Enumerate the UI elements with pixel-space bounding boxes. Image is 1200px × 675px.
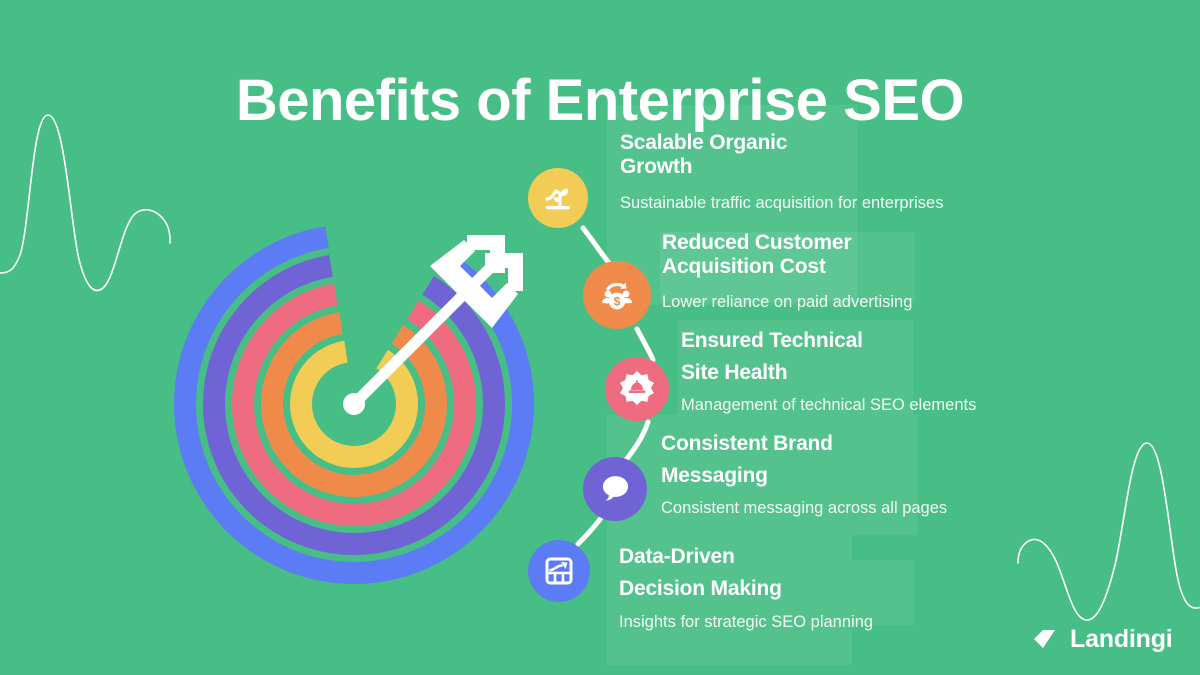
brand-name: Landingi (1070, 627, 1173, 652)
benefit-text-5: Data-Driven Decision Making Insights for… (619, 541, 1039, 633)
bullseye-target-graphic (168, 218, 540, 590)
landingi-diamond-icon (1031, 624, 1061, 654)
benefit-text-1: Scalable Organic Growth Sustainable traf… (620, 131, 1040, 214)
benefit-heading-1: Scalable Organic Growth (620, 131, 1040, 178)
customer-cost-dollar-icon: $ (595, 273, 639, 317)
benefit-description-4: Consistent messaging across all pages (661, 499, 1081, 519)
svg-text:$: $ (614, 294, 621, 308)
benefit-text-2: Reduced Customer Acquisition Cost Lower … (662, 231, 1082, 313)
bar-chart-growth-icon (540, 552, 578, 590)
infographic-canvas: Benefits of Enterprise SEO (0, 0, 1200, 675)
benefit-description-3: Management of technical SEO elements (681, 396, 1101, 416)
benefit-icon-4[interactable] (583, 457, 647, 521)
benefit-description-1: Sustainable traffic acquisition for ente… (620, 194, 1040, 214)
benefit-icon-2[interactable]: $ (583, 261, 651, 329)
page-title: Benefits of Enterprise SEO (0, 71, 1200, 132)
speech-bubble-icon (596, 470, 634, 508)
benefit-description-2: Lower reliance on paid advertising (662, 293, 1082, 313)
benefit-icon-5[interactable] (528, 540, 590, 602)
benefit-heading-4: Consistent Brand Messaging (661, 428, 1081, 491)
benefit-text-3: Ensured Technical Site Health Management… (681, 325, 1101, 416)
benefit-text-4: Consistent Brand Messaging Consistent me… (661, 428, 1081, 519)
benefit-description-5: Insights for strategic SEO planning (619, 613, 1039, 633)
benefit-heading-3: Ensured Technical Site Health (681, 325, 1101, 388)
benefit-heading-5: Data-Driven Decision Making (619, 541, 1039, 604)
gear-hardhat-icon (616, 368, 658, 410)
benefit-heading-2: Reduced Customer Acquisition Cost (662, 231, 1082, 278)
benefit-icon-3[interactable] (605, 357, 669, 421)
benefit-icon-1[interactable] (528, 168, 588, 228)
plant-growth-icon (539, 179, 577, 217)
brand-logo[interactable]: Landingi (1031, 624, 1173, 654)
